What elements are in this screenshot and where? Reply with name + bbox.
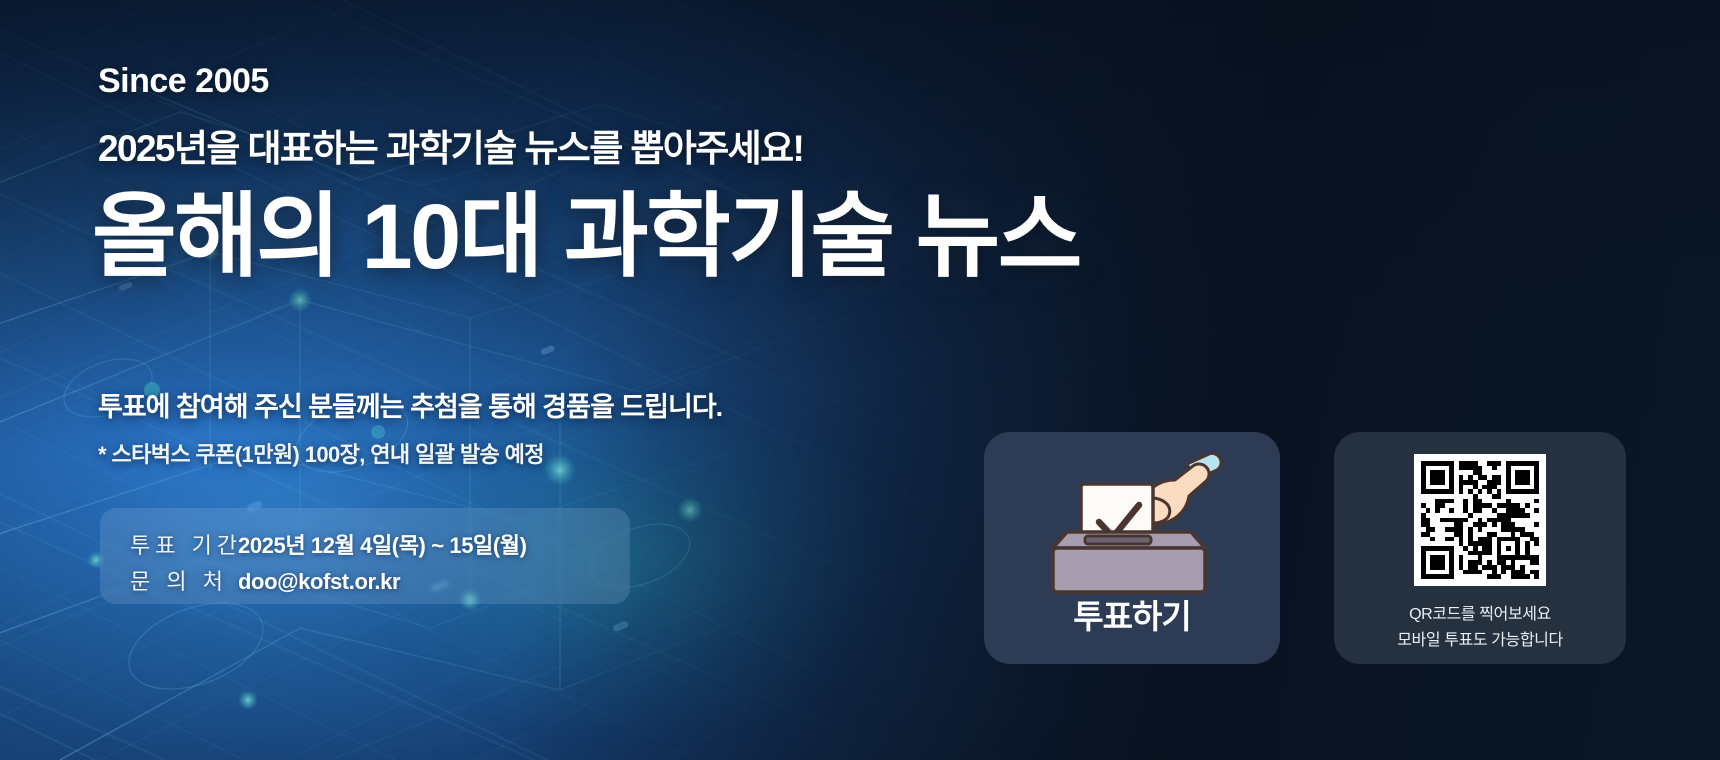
qr-caption-line1: QR코드를 찍어보세요 [1334,600,1626,624]
since-label: Since 2005 [98,62,269,101]
contact-value: doo@kofst.or.kr [238,569,400,594]
qr-code-icon[interactable] [1414,454,1546,586]
page-title: 올해의 10대 과학기술 뉴스 [92,188,1080,287]
contact-row: 문 의 처doo@kofst.or.kr [130,564,400,596]
vote-period-value: 2025년 12월 4일(목) ~ 15일(월) [238,533,527,558]
qr-card[interactable]: QR코드를 찍어보세요 모바일 투표도 가능합니다 [1334,432,1626,664]
vote-period-label: 투표 기간 [130,528,238,560]
promo-text: 투표에 참여해 주신 분들께는 추첨을 통해 경품을 드립니다. [98,385,722,424]
subheadline: 2025년을 대표하는 과학기술 뉴스를 뽑아주세요! [98,118,803,172]
ballot-box-icon [1037,448,1227,598]
promo-banner: Since 2005 2025년을 대표하는 과학기술 뉴스를 뽑아주세요! 올… [0,0,1720,760]
vote-button-label: 투표하기 [984,590,1280,638]
contact-label: 문 의 처 [130,564,238,596]
ballot-icon-wrap [984,448,1280,598]
qr-caption-line2: 모바일 투표도 가능합니다 [1334,626,1626,650]
promo-note: * 스타벅스 쿠폰(1만원) 100장, 연내 일괄 발송 예정 [98,437,544,469]
vote-button-card[interactable]: 투표하기 [984,432,1280,664]
info-box: 투표 기간2025년 12월 4일(목) ~ 15일(월) 문 의 처doo@k… [100,508,630,604]
vote-period-row: 투표 기간2025년 12월 4일(목) ~ 15일(월) [130,528,527,560]
